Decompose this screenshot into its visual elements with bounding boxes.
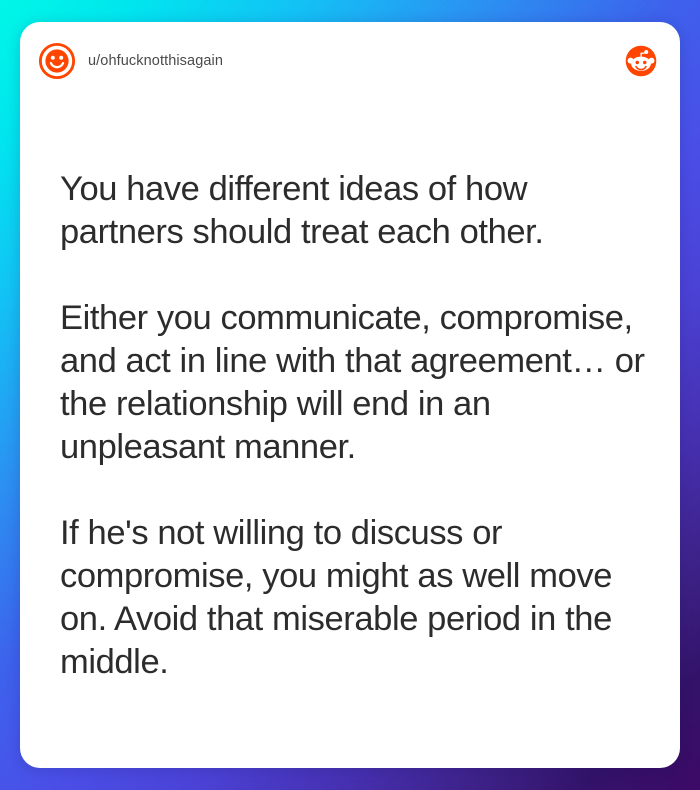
smiley-face-avatar-icon[interactable]: [38, 42, 76, 80]
post-paragraph: You have different ideas of how partners…: [60, 168, 658, 254]
quote-card-canvas: u/ohfucknotthisagain: [0, 0, 700, 790]
post-paragraph: If he's not willing to discuss or compro…: [60, 512, 658, 684]
reddit-post-card: u/ohfucknotthisagain: [20, 22, 680, 768]
post-paragraph: Either you communicate, compromise, and …: [60, 297, 658, 469]
reddit-snoo-logo-icon[interactable]: [624, 44, 658, 78]
username-label[interactable]: u/ohfucknotthisagain: [88, 53, 223, 69]
post-body: You have different ideas of how partners…: [60, 168, 658, 684]
post-header: u/ohfucknotthisagain: [20, 22, 680, 100]
